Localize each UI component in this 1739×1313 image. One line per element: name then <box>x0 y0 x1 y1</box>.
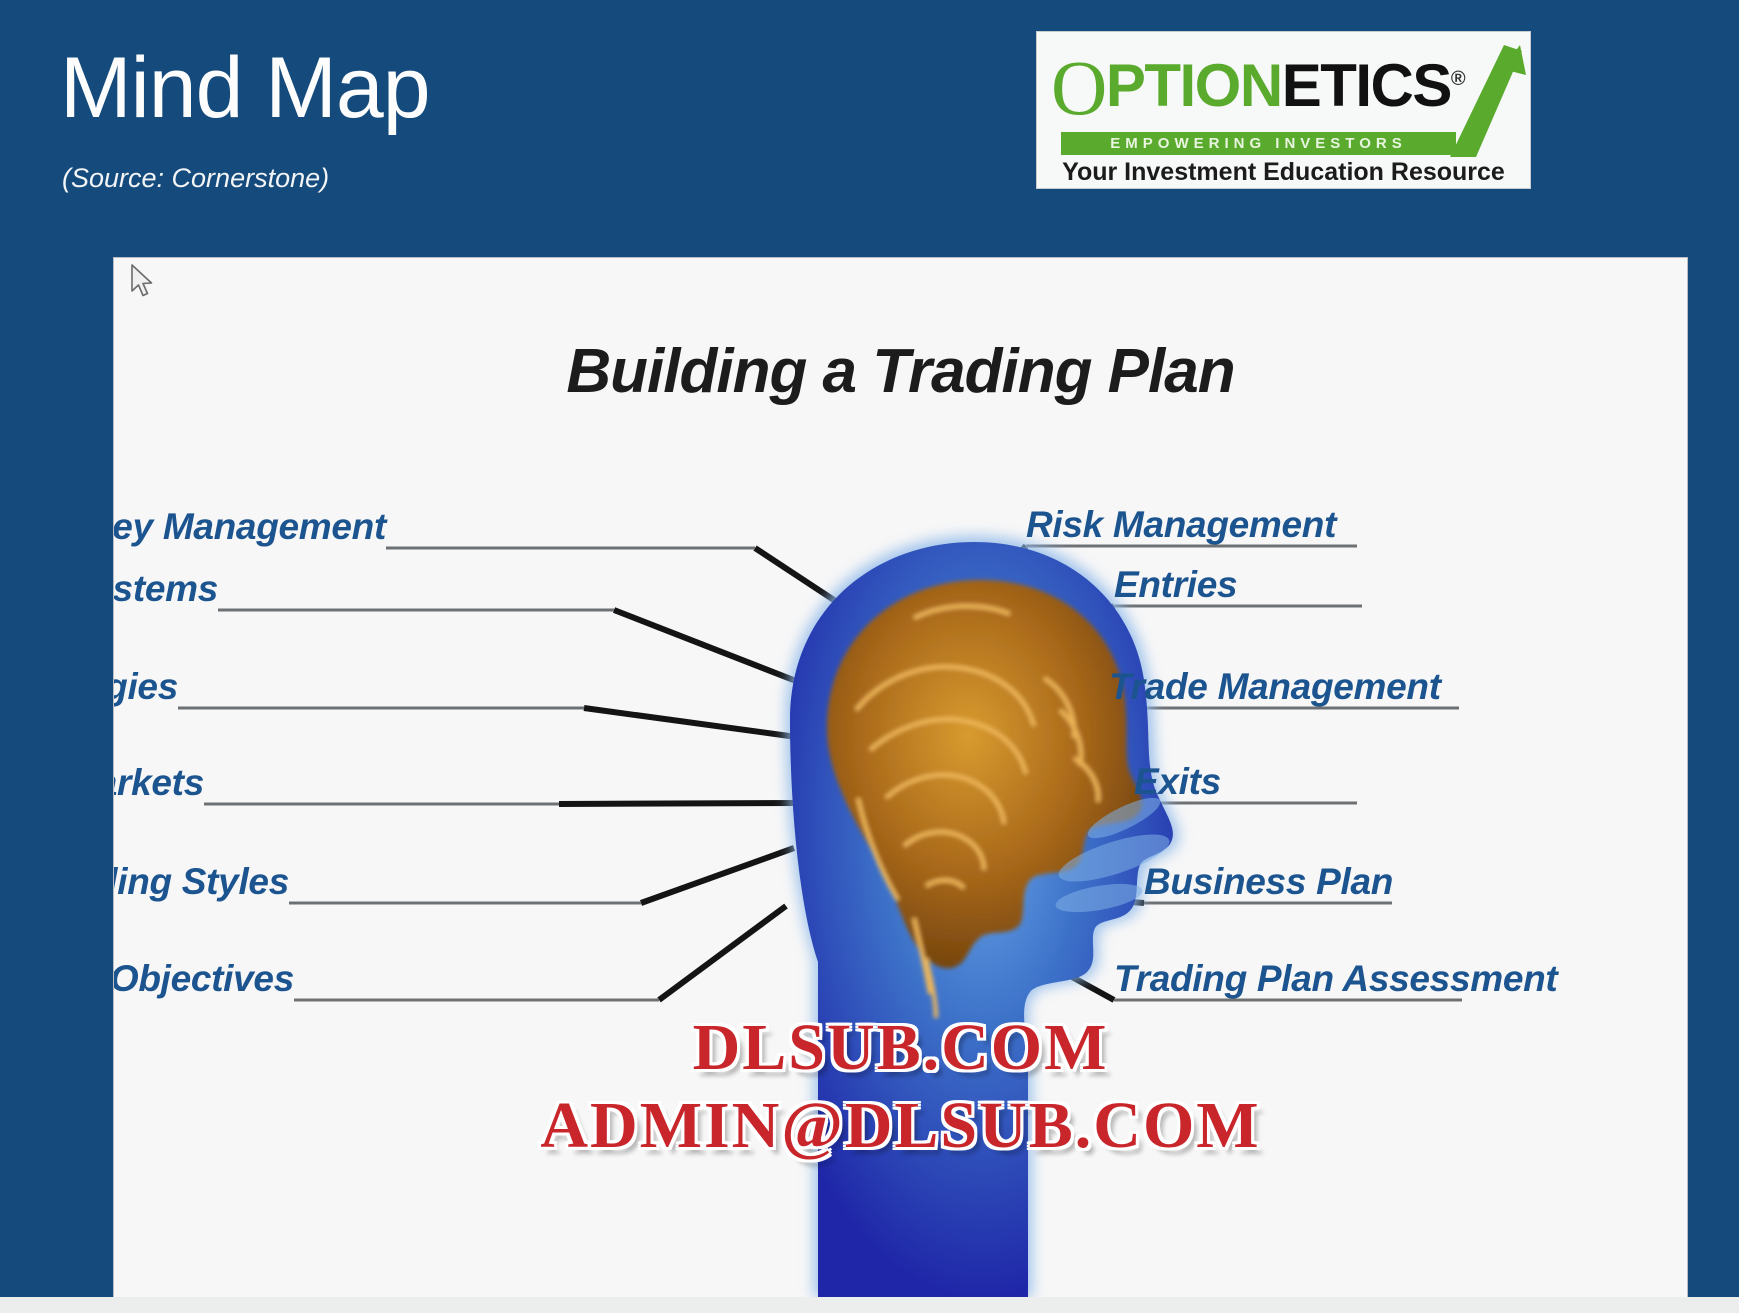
logo-subtitle: Your Investment Education Resource <box>1047 158 1520 187</box>
node-exits[interactable]: Exits <box>1134 763 1221 805</box>
slide-screenshot: Mind Map (Source: Cornerstone) OPTIONETI… <box>0 0 1739 1313</box>
logo-o-glyph: O <box>1051 57 1106 119</box>
node-trading-objectives[interactable]: Trading Objectives <box>113 960 294 1002</box>
slide-source-note: (Source: Cornerstone) <box>62 163 329 194</box>
watermark-site: DLSUB.COM <box>114 1010 1687 1086</box>
node-preferred-markets[interactable]: Preferred Markets <box>113 764 204 806</box>
optionetics-logo: OPTIONETICS® EMPOWERING INVESTORS Your I… <box>1036 31 1531 189</box>
slide-content-panel: Building a Trading Plan <box>113 257 1688 1299</box>
logo-wordmark: OPTIONETICS® <box>1051 49 1464 116</box>
node-business-plan[interactable]: Business Plan <box>1144 863 1393 905</box>
node-trading-plan-assessment[interactable]: Trading Plan Assessment <box>1114 960 1557 1002</box>
bottom-strip <box>0 1297 1739 1313</box>
node-risk-management[interactable]: Risk Management <box>1026 506 1336 548</box>
node-entries[interactable]: Entries <box>1114 566 1237 608</box>
node-trading-styles[interactable]: Trading Styles <box>113 863 289 905</box>
page-title: Mind Map <box>60 45 430 131</box>
node-money-management[interactable]: Money Management <box>113 508 386 550</box>
node-preferred-systems[interactable]: Preferred Systems <box>113 570 218 612</box>
node-trade-management[interactable]: Trade Management <box>1109 668 1441 710</box>
head-with-brain-graphic <box>786 536 1179 1298</box>
watermark-email: ADMIN@DLSUB.COM <box>114 1088 1687 1164</box>
logo-text-black: ETICS <box>1282 52 1451 119</box>
logo-tagline-bar: EMPOWERING INVESTORS <box>1061 132 1456 155</box>
green-arrow-icon <box>1442 45 1526 157</box>
node-preferred-strategies[interactable]: Preferred Strategies <box>113 668 178 710</box>
logo-text-green: PTION <box>1106 52 1282 119</box>
